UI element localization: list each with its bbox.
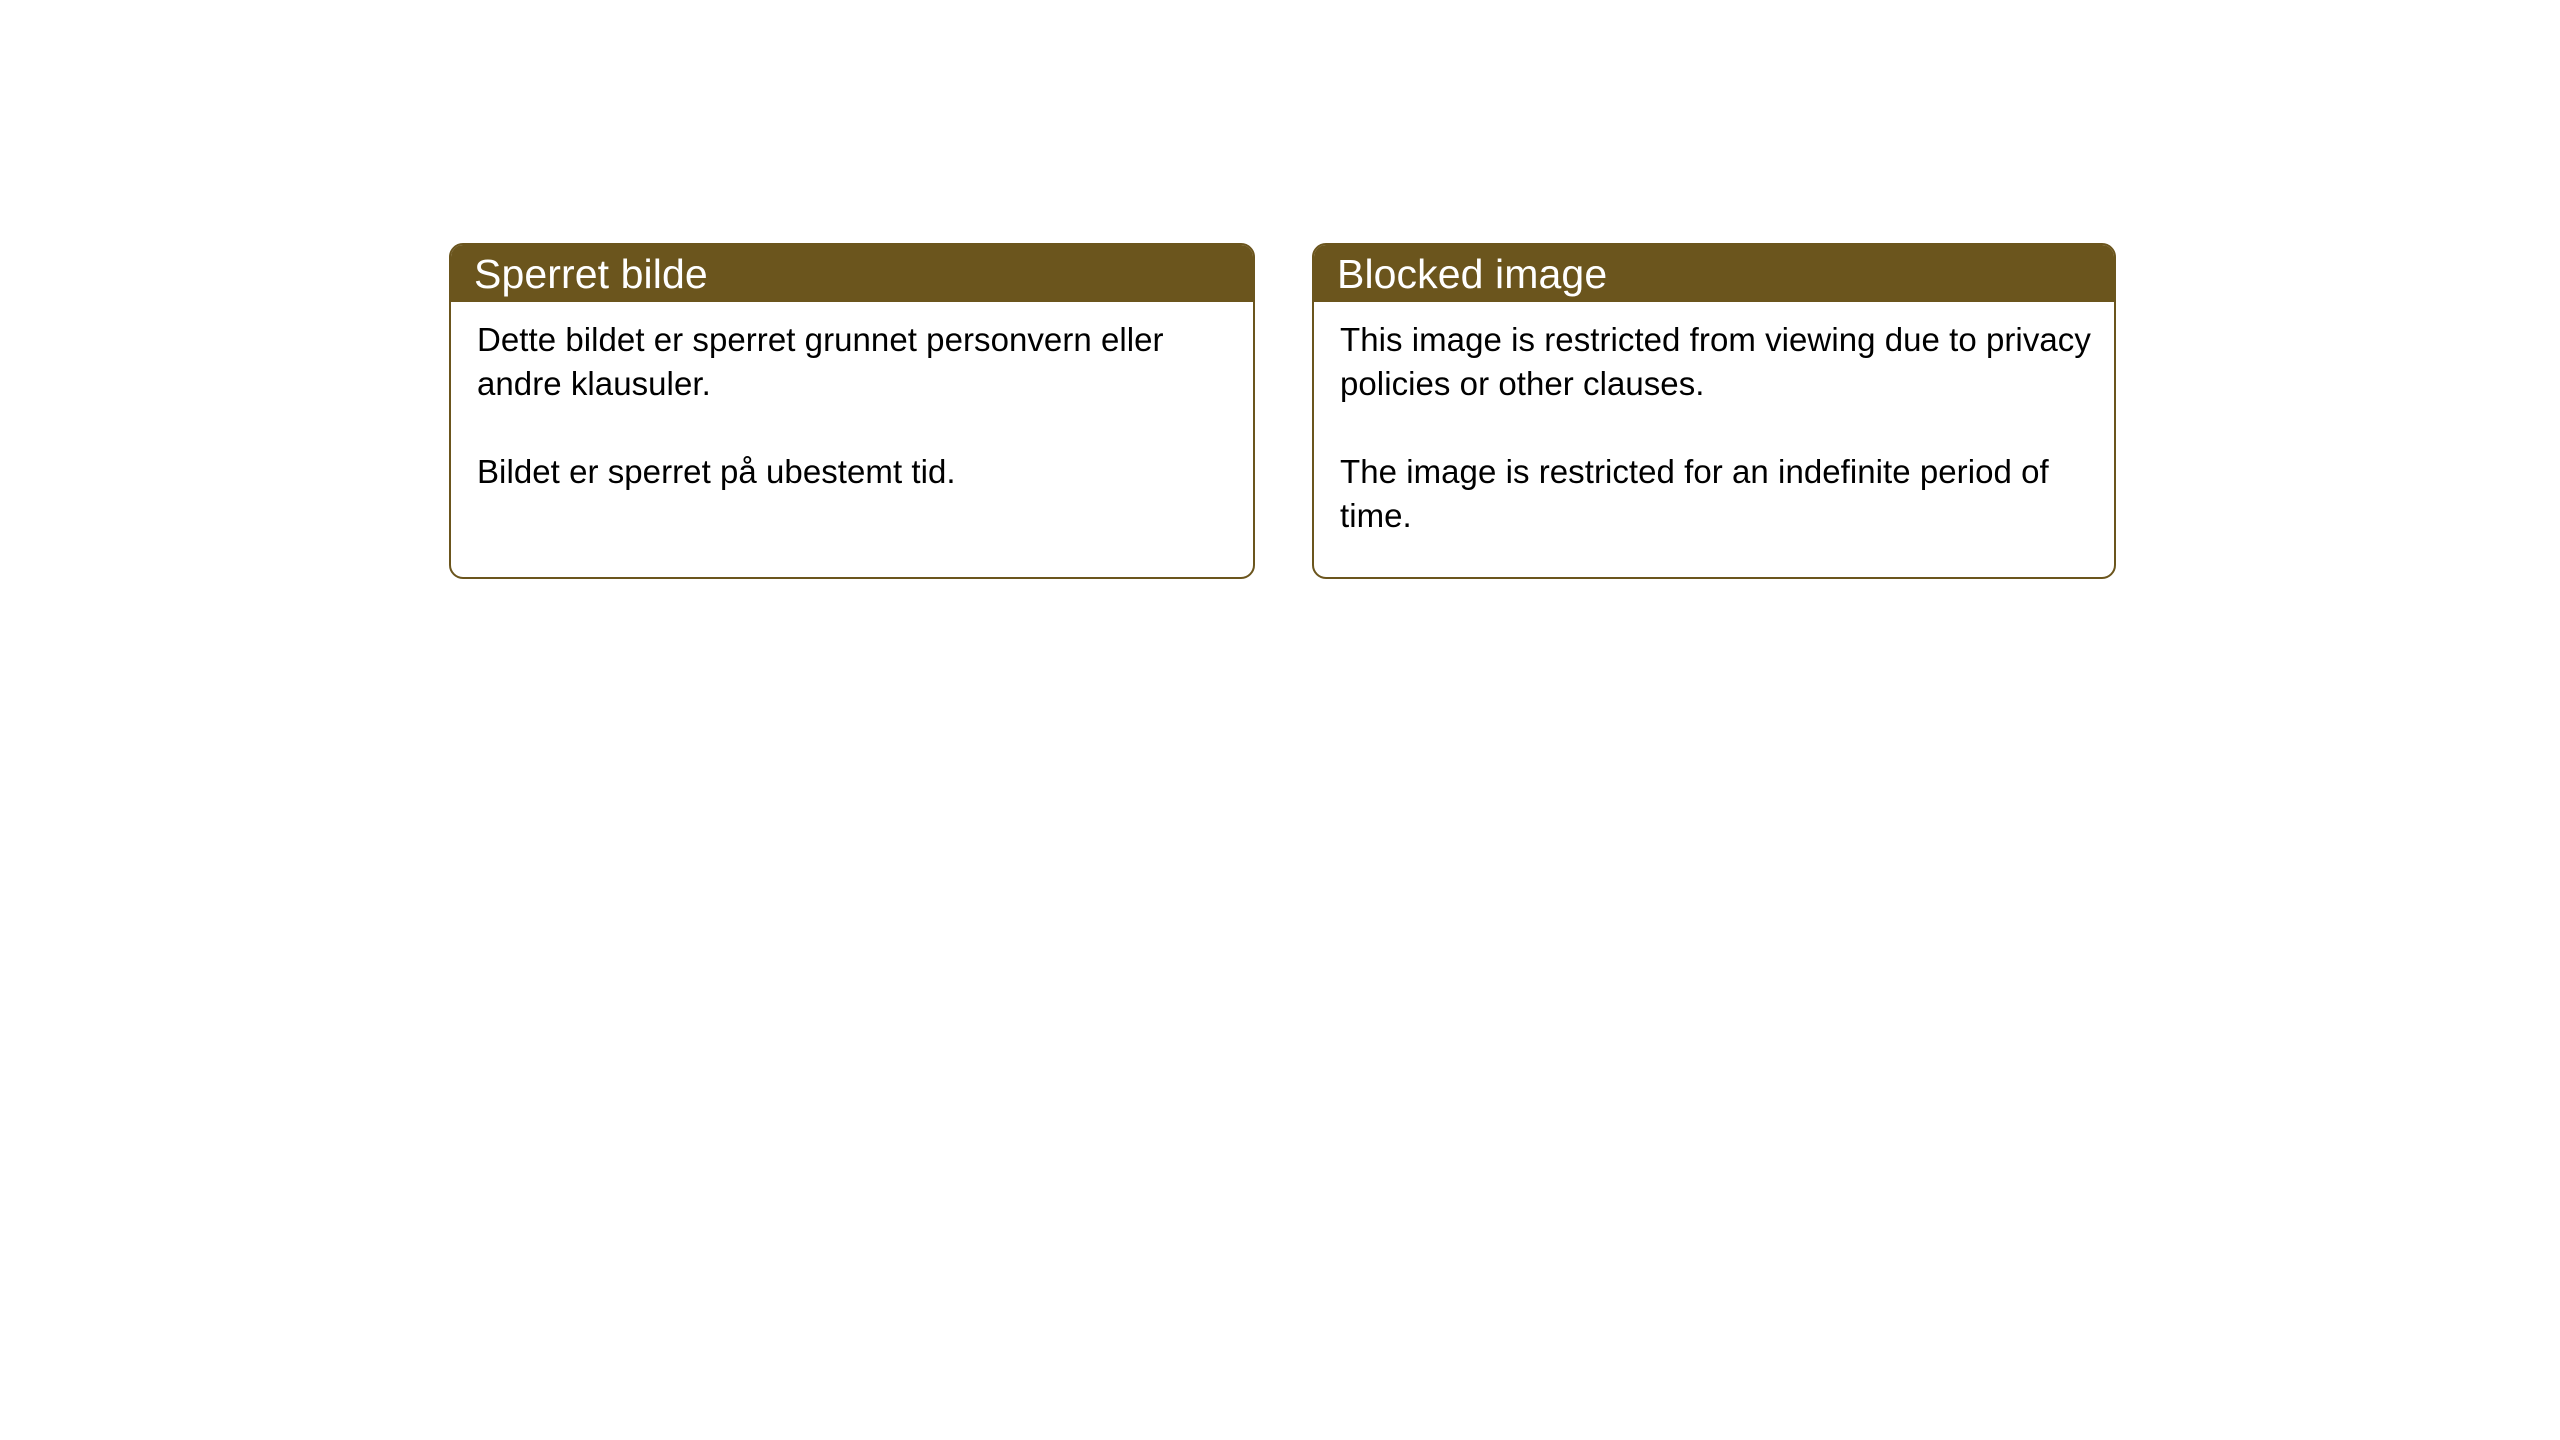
panel-title-english: Blocked image xyxy=(1337,254,1607,295)
panel-paragraph-reason-norwegian: Dette bildet er sperret grunnet personve… xyxy=(477,318,1187,406)
panel-title-norwegian: Sperret bilde xyxy=(474,254,708,295)
blocked-image-panel-norwegian: Sperret bilde Dette bildet er sperret gr… xyxy=(449,243,1255,579)
panel-paragraph-duration-norwegian: Bildet er sperret på ubestemt tid. xyxy=(477,450,1187,494)
blocked-image-notice-area: Sperret bilde Dette bildet er sperret gr… xyxy=(0,0,2560,1440)
panel-header-english: Blocked image xyxy=(1313,244,2115,302)
panel-body-norwegian: Dette bildet er sperret grunnet personve… xyxy=(451,302,1253,494)
panel-header-norwegian: Sperret bilde xyxy=(450,244,1254,302)
blocked-image-panel-english: Blocked image This image is restricted f… xyxy=(1312,243,2116,579)
panel-paragraph-duration-english: The image is restricted for an indefinit… xyxy=(1340,450,2092,538)
panel-body-english: This image is restricted from viewing du… xyxy=(1314,302,2114,538)
panel-paragraph-reason-english: This image is restricted from viewing du… xyxy=(1340,318,2092,406)
